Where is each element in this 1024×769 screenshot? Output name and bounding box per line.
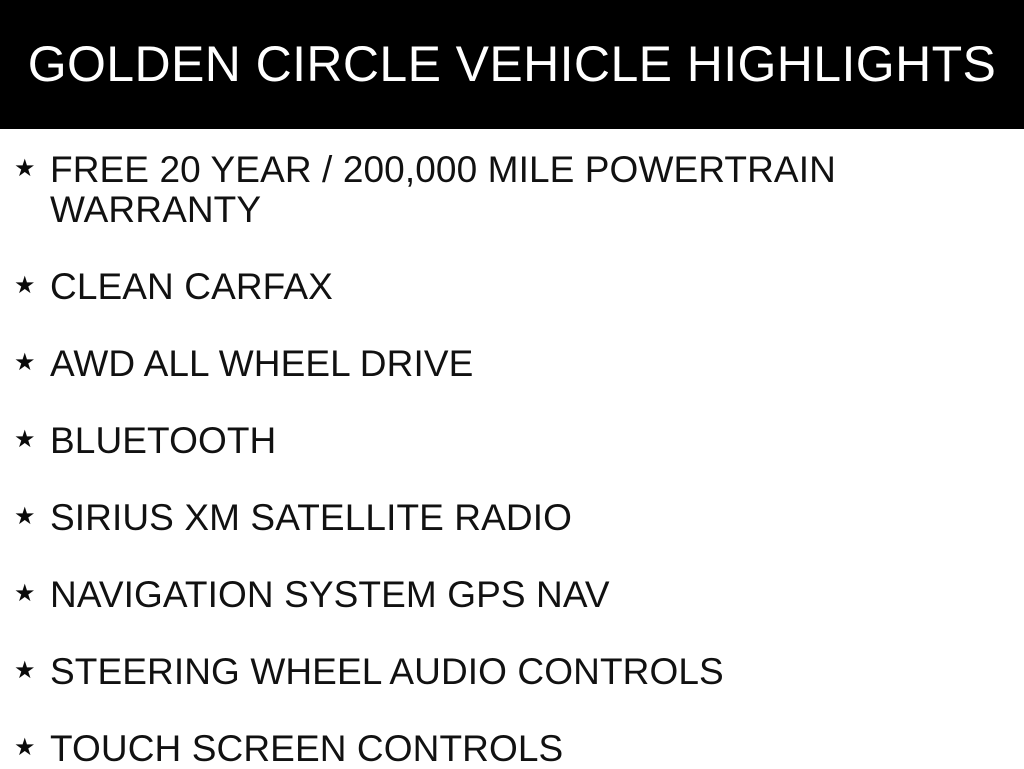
list-item: ★ TOUCH SCREEN CONTROLS bbox=[0, 729, 1024, 769]
highlight-label: NAVIGATION SYSTEM GPS NAV bbox=[34, 575, 840, 615]
list-item: ★ BLUETOOTH bbox=[0, 421, 1024, 461]
highlight-label: FREE 20 YEAR / 200,000 MILE POWERTRAIN W… bbox=[34, 150, 840, 230]
list-item: ★ CLEAN CARFAX bbox=[0, 267, 1024, 307]
star-icon: ★ bbox=[14, 652, 34, 690]
star-icon: ★ bbox=[14, 344, 34, 382]
highlight-label: CLEAN CARFAX bbox=[34, 267, 840, 307]
list-item: ★ NAVIGATION SYSTEM GPS NAV bbox=[0, 575, 1024, 615]
highlight-label: AWD ALL WHEEL DRIVE bbox=[34, 344, 840, 384]
star-icon: ★ bbox=[14, 729, 34, 767]
highlight-label: TOUCH SCREEN CONTROLS bbox=[34, 729, 840, 769]
list-item: ★ FREE 20 YEAR / 200,000 MILE POWERTRAIN… bbox=[0, 150, 1024, 230]
list-item: ★ SIRIUS XM SATELLITE RADIO bbox=[0, 498, 1024, 538]
vehicle-highlights-list: ★ FREE 20 YEAR / 200,000 MILE POWERTRAIN… bbox=[0, 129, 1024, 769]
highlight-label: SIRIUS XM SATELLITE RADIO bbox=[34, 498, 840, 538]
star-icon: ★ bbox=[14, 575, 34, 613]
list-item: ★ STEERING WHEEL AUDIO CONTROLS bbox=[0, 652, 1024, 692]
star-icon: ★ bbox=[14, 150, 34, 188]
highlight-label: BLUETOOTH bbox=[34, 421, 840, 461]
header-banner: GOLDEN CIRCLE VEHICLE HIGHLIGHTS bbox=[0, 0, 1024, 129]
highlight-label: STEERING WHEEL AUDIO CONTROLS bbox=[34, 652, 840, 692]
star-icon: ★ bbox=[14, 267, 34, 305]
star-icon: ★ bbox=[14, 421, 34, 459]
list-item: ★ AWD ALL WHEEL DRIVE bbox=[0, 344, 1024, 384]
vehicle-highlights-page: GOLDEN CIRCLE VEHICLE HIGHLIGHTS ★ FREE … bbox=[0, 0, 1024, 768]
star-icon: ★ bbox=[14, 498, 34, 536]
page-title: GOLDEN CIRCLE VEHICLE HIGHLIGHTS bbox=[28, 39, 997, 89]
